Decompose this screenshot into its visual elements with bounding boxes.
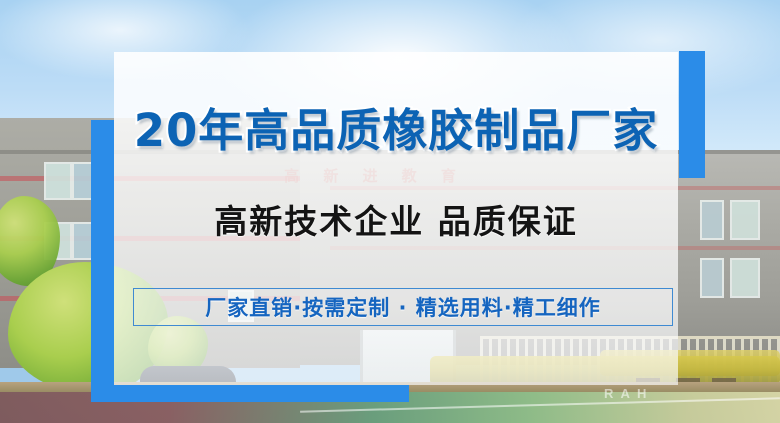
accent-bar-bottom [91,385,409,402]
building-window [730,200,760,240]
accent-bar-left [91,120,114,402]
building-window [700,200,724,240]
photo-watermark: R A H [604,386,648,401]
accent-bar-right [679,51,705,178]
tagline-text: 厂家直销·按需定制 · 精选用料·精工细作 [205,292,601,322]
building-window [44,162,72,200]
headline-text: 20年高品质橡胶制品厂家 [114,108,678,153]
tagline-box: 厂家直销·按需定制 · 精选用料·精工细作 [133,288,673,326]
building-window [730,258,760,298]
building-window [700,258,724,298]
subtitle-text: 高新技术企业 品质保证 [114,204,678,240]
promo-banner: 高 新 进 教 育 R A H 20年高品质橡胶制品厂家 高新技术企业 品质保证… [0,0,780,423]
banner-content: 20年高品质橡胶制品厂家 高新技术企业 品质保证 厂家直销·按需定制 · 精选用… [114,52,678,385]
